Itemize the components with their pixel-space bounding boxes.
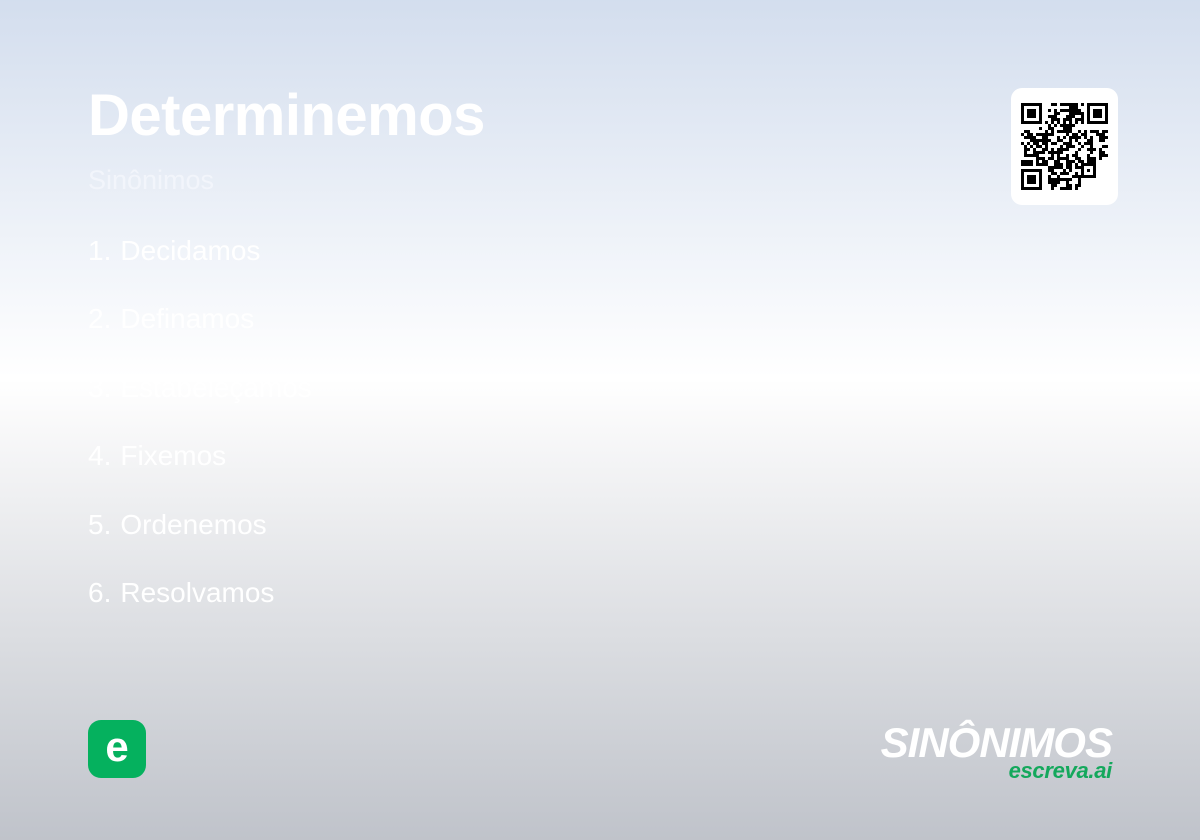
list-item-number: 1.	[88, 235, 111, 266]
brand-badge-letter: e	[105, 726, 128, 768]
list-item: 4.Fixemos	[88, 441, 312, 470]
list-item-number: 6.	[88, 577, 111, 608]
page-subtitle: Sinônimos	[88, 166, 214, 196]
list-item-word: Definamos	[120, 303, 254, 334]
list-item-word: Estabeleçamos	[120, 372, 311, 403]
list-item: 3.Estabeleçamos	[88, 373, 312, 402]
list-item-number: 5.	[88, 509, 111, 540]
page-title: Determinemos	[88, 86, 485, 146]
list-item-word: Ordenemos	[120, 509, 266, 540]
escreva-e-badge-icon[interactable]: e	[88, 720, 146, 778]
qr-code-icon[interactable]	[1011, 88, 1118, 205]
synonym-card: Determinemos Sinônimos 1.Decidamos 2.Def…	[0, 0, 1200, 840]
list-item: 2.Definamos	[88, 304, 312, 333]
list-item-word: Decidamos	[120, 235, 260, 266]
list-item: 6.Resolvamos	[88, 578, 312, 607]
list-item-word: Resolvamos	[120, 577, 274, 608]
list-item: 1.Decidamos	[88, 236, 312, 265]
list-item-word: Fixemos	[120, 440, 226, 471]
list-item: 5.Ordenemos	[88, 510, 312, 539]
synonym-list: 1.Decidamos 2.Definamos 3.Estabeleçamos …	[88, 236, 312, 607]
list-item-number: 3.	[88, 372, 111, 403]
list-item-number: 4.	[88, 440, 111, 471]
brand-wordmark[interactable]: SINÔNIMOS escreva.ai	[881, 722, 1112, 782]
list-item-number: 2.	[88, 303, 111, 334]
